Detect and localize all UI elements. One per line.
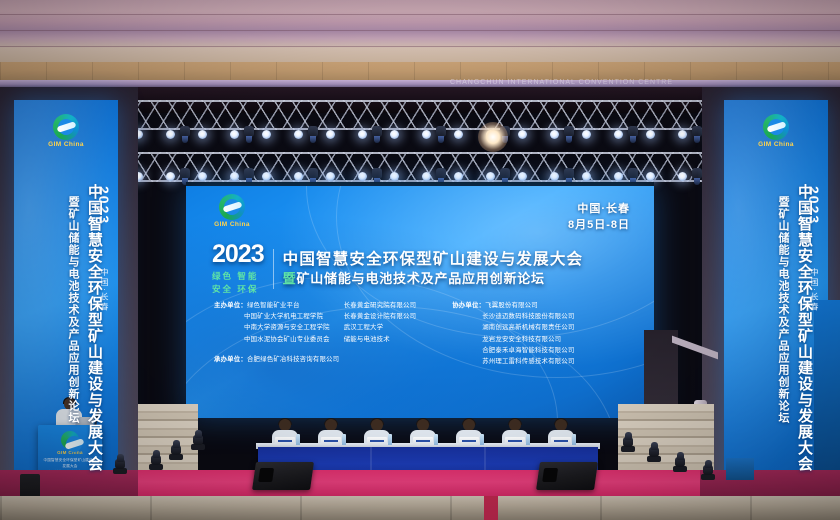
moving-head-light (112, 452, 128, 474)
co-2: 湖南创远高新机械有限责任公司 (452, 322, 574, 333)
stage-lamp (294, 130, 303, 139)
stage-lamp (198, 130, 207, 139)
stage-lamp (390, 172, 399, 181)
host-col1-3: 中国水泥协会矿山专业委员会 (214, 334, 330, 345)
ledge-red-marker (484, 496, 498, 520)
logo-gim-text: GIM (57, 450, 67, 455)
led-backdrop-screen: GIM China 中国·长春 8月5日-8日 2023 绿色 智能 安全 环保… (186, 186, 654, 418)
stage-lamp (678, 172, 687, 181)
moving-head-light (148, 448, 164, 470)
stage-lamp (646, 172, 655, 181)
host-col2-2: 武汉工程大学 (344, 322, 417, 333)
stage-lamp (422, 130, 431, 139)
co-label: 协办单位： (452, 302, 485, 309)
table-name-card (505, 437, 525, 445)
moving-head-fixture (178, 126, 192, 144)
host-col2-1: 长春黄金设计院有限公司 (344, 311, 417, 322)
stage-lamp (358, 172, 367, 181)
water-bottle (526, 434, 530, 445)
podium-logo: GIM China (50, 431, 90, 459)
floor-monitor-left (252, 462, 314, 490)
moving-head-fixture (626, 126, 640, 144)
stage-lamp (582, 130, 591, 139)
stage-lamp (518, 172, 527, 181)
led-title-line2-text: 矿山储能与电池技术及产品应用创新论坛 (296, 271, 544, 286)
conference-stage-photo: CHANGCHUN INTERNATIONAL CONVENTION CENTR… (0, 0, 840, 520)
table-name-card (413, 437, 433, 445)
stage-lamp (422, 172, 431, 181)
led-slogan-line1: 绿色 智能 (212, 270, 264, 283)
stage-lamp (678, 130, 687, 139)
moving-head-light (168, 438, 184, 460)
logo-gim-text: GIM (214, 221, 227, 228)
led-headline-group: 中国智慧安全环保型矿山建设与发展大会 暨矿山储能与电池技术及产品应用创新论坛 (283, 250, 584, 288)
co-4: 合肥泰禾卓海智能科技有限公司 (452, 345, 574, 356)
host-col2-0: 长春黄金研究院有限公司 (344, 300, 417, 311)
water-bottle (342, 434, 346, 445)
stage-lamp (358, 130, 367, 139)
stage-lamp (486, 172, 495, 181)
led-date-text: 8月5日-8日 (568, 218, 630, 234)
moving-head-fixture (562, 126, 576, 144)
gim-ring-icon (763, 114, 789, 140)
stage-lamp (166, 130, 175, 139)
ceiling (0, 0, 840, 62)
ceiling-wood-beam (0, 62, 840, 80)
far-right-blue-panel (814, 300, 840, 480)
ceiling-light-strip (0, 80, 840, 87)
water-bottle (296, 434, 300, 445)
stage-lamp (198, 172, 207, 181)
moving-head-fixture (242, 126, 256, 144)
logo-china-text: China (774, 141, 794, 148)
gim-china-logo: GIM China (758, 114, 794, 148)
gim-ring-icon (61, 431, 79, 449)
banner-left-main-text: 中国智慧安全环保型矿山建设与发展大会 (87, 184, 102, 472)
led-title-block: 2023 绿色 智能 安全 环保 中国智慧安全环保型矿山建设与发展大会 暨矿山储… (212, 242, 583, 296)
gim-ring-icon (219, 194, 245, 220)
table-name-card (321, 437, 341, 445)
led-slogan: 绿色 智能 安全 环保 (212, 270, 264, 296)
co-5: 苏州理工雷科传感技术有限公司 (452, 356, 574, 367)
logo-gim-text: GIM (758, 141, 771, 148)
logo-china-text: China (230, 221, 250, 228)
organizer-name: 合肥绿色矿冶科技咨询有限公司 (247, 356, 339, 363)
stage-lamp (518, 130, 527, 139)
stage-lamp (230, 172, 239, 181)
right-blue-crate (726, 458, 754, 480)
water-bottle (388, 434, 392, 445)
co-0: 飞翼股份有限公司 (485, 302, 538, 309)
stage-lamp (294, 172, 303, 181)
stage-front-ledge (0, 496, 840, 520)
bright-spotlight-glare (478, 122, 508, 152)
sponsor-co-col: 协办单位：飞翼股份有限公司 长沙迪迈数码科技股份有限公司 湖南创远高新机械有限责… (452, 300, 574, 367)
led-gim-logo: GIM China (204, 194, 260, 231)
led-city-text: 中国·长春 (568, 202, 630, 218)
water-bottle (572, 434, 576, 445)
logo-china-text: China (64, 141, 84, 148)
moving-head-light (672, 450, 688, 472)
banner-left-logo: GIM China (42, 114, 90, 151)
table-name-card (367, 437, 387, 445)
host-col1-0: 绿色智能矿业平台 (247, 302, 300, 309)
table-name-card (459, 437, 479, 445)
stage-lamp (454, 130, 463, 139)
stage-lamp (326, 172, 335, 181)
stage-lamp (326, 130, 335, 139)
table-name-card (275, 437, 295, 445)
floor-monitor-right (536, 462, 598, 490)
moving-head-light (700, 458, 716, 480)
stage-lamp (166, 172, 175, 181)
banner-left-sub-text: 暨矿山储能与电池技术及产品应用创新论坛 (67, 196, 78, 424)
sponsor-organizer-row: 承办单位：合肥绿色矿冶科技咨询有限公司 (214, 354, 339, 363)
banner-right-sub-text: 暨矿山储能与电池技术及产品应用创新论坛 (777, 196, 788, 424)
stage-lamp (614, 130, 623, 139)
moving-head-fixture (306, 126, 320, 144)
stage-lamp (646, 130, 655, 139)
moving-head-fixture (434, 126, 448, 144)
host-label: 主办单位： (214, 302, 247, 309)
stage-lamp (390, 130, 399, 139)
host-col1-1: 中国矿业大学机电工程学院 (214, 311, 330, 322)
title-divider (273, 249, 274, 289)
stage-lamp (550, 130, 559, 139)
sponsor-host-col2: 长春黄金研究院有限公司 长春黄金设计院有限公司 武汉工程大学 储能与电池技术 (344, 300, 417, 367)
stage-lamp (582, 172, 591, 181)
stage-lamp (550, 172, 559, 181)
gim-china-logo: GIM China (214, 194, 250, 228)
organizer-label: 承办单位： (214, 356, 247, 363)
led-year-group: 2023 绿色 智能 安全 环保 (212, 242, 264, 296)
stage-lamp (230, 130, 239, 139)
co-3: 龙岩龙安安全科技有限公司 (452, 334, 574, 345)
gim-china-logo: GIM China (48, 114, 84, 148)
led-year: 2023 (212, 242, 264, 267)
stage-lamp (262, 172, 271, 181)
water-bottle (480, 434, 484, 445)
gim-china-logo: GIM China (57, 431, 83, 455)
moving-head-light (620, 430, 636, 452)
moving-head-light (646, 440, 662, 462)
moving-head-fixture (370, 126, 384, 144)
led-title-prefix: 暨 (283, 271, 297, 286)
stage-lamp (454, 172, 463, 181)
moving-head-light (190, 428, 206, 450)
host-col2-3: 储能与电池技术 (344, 334, 417, 345)
vertical-banner-right: GIM China 2023 中国·长春 中国智慧安全环保型矿山建设与发展大会 … (724, 100, 828, 520)
banner-right-logo: GIM China (752, 114, 800, 151)
logo-gim-text: GIM (48, 141, 61, 148)
led-date-block: 中国·长春 8月5日-8日 (568, 202, 630, 234)
stage-lamp (262, 130, 271, 139)
water-bottle (434, 434, 438, 445)
host-col1-2: 中南大学资源与安全工程学院 (214, 322, 330, 333)
banner-right-main-text: 中国智慧安全环保型矿山建设与发展大会 (797, 184, 812, 472)
co-1: 长沙迪迈数码科技股份有限公司 (452, 311, 574, 322)
table-name-card (551, 437, 571, 445)
led-title-line1: 中国智慧安全环保型矿山建设与发展大会 (283, 250, 584, 269)
led-title-line2: 暨矿山储能与电池技术及产品应用创新论坛 (283, 271, 584, 288)
stage-lamp (614, 172, 623, 181)
gim-ring-icon (53, 114, 79, 140)
led-slogan-line2: 安全 环保 (212, 283, 264, 296)
